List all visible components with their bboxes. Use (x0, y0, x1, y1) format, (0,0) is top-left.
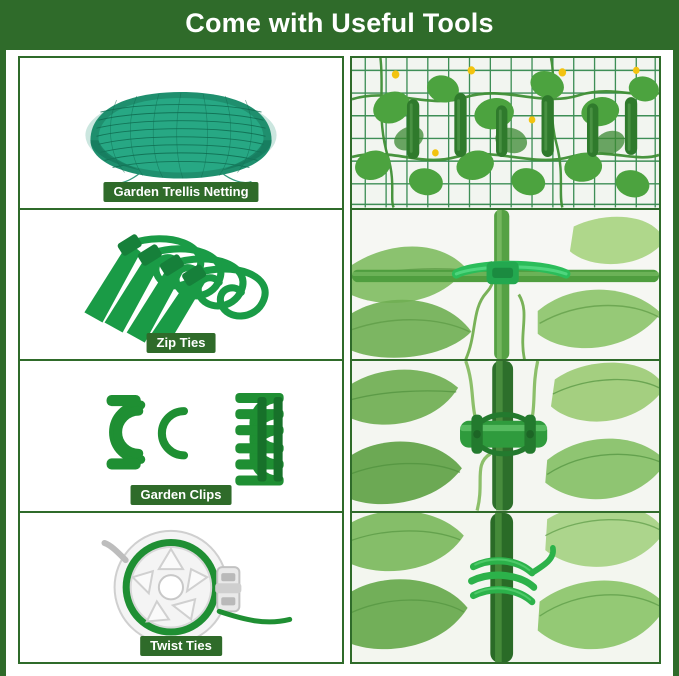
tool-cell-netting: Garden Trellis Netting (20, 58, 342, 210)
caption-garden-clips: Garden Clips (131, 485, 232, 505)
product-feature-card: Come with Useful Tools (0, 0, 679, 676)
garden-clip-on-stake-photo (352, 361, 659, 513)
page-title: Come with Useful Tools (185, 10, 493, 40)
tool-cell-zip-ties: Zip Ties (20, 210, 342, 362)
tool-cell-garden-clips: Garden Clips (20, 361, 342, 513)
header-banner: Come with Useful Tools (0, 0, 679, 50)
caption-zip-ties: Zip Ties (147, 333, 216, 353)
tools-column: Garden Trellis Netting (18, 56, 344, 664)
cucumbers-on-trellis-netting-photo (352, 58, 659, 210)
zip-tie-securing-stake-photo (352, 210, 659, 362)
content-area: Garden Trellis Netting (12, 50, 667, 670)
caption-twist-ties: Twist Ties (140, 636, 222, 656)
photos-column (350, 56, 661, 664)
caption-netting: Garden Trellis Netting (103, 182, 258, 202)
twist-tie-on-stake-photo (352, 513, 659, 663)
tool-cell-twist-ties: Twist Ties (20, 513, 342, 663)
